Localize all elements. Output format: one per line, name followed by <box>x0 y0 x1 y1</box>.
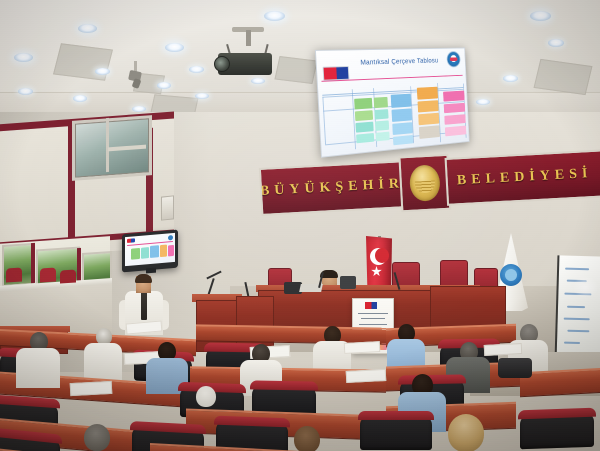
tv-slide-flag <box>127 238 135 243</box>
window-mullion <box>77 248 81 284</box>
tv-screen <box>125 233 175 266</box>
tv-slide-cell-orange <box>160 245 167 258</box>
auditorium-seating <box>0 330 600 451</box>
audience-chair <box>360 416 432 450</box>
slide-cell-pink <box>443 91 465 102</box>
presenter-tie <box>141 292 147 320</box>
attendee-head <box>196 386 216 407</box>
desk-bag <box>498 358 532 378</box>
attendee-torso <box>16 348 60 388</box>
ceiling-downlight <box>195 93 209 99</box>
handout-paper <box>70 381 113 396</box>
slide-cell-orange <box>418 100 439 112</box>
ceiling-downlight <box>157 82 171 89</box>
head-table-side <box>430 286 506 330</box>
ceiling-downlight <box>95 68 110 75</box>
ceiling-downlight <box>18 88 33 95</box>
handout-paper <box>346 369 387 383</box>
slide-cell-orange <box>417 87 438 100</box>
window-mullion <box>106 118 109 172</box>
slide-cell-green <box>374 97 388 108</box>
handout-paper <box>484 343 523 356</box>
ceiling-downlight <box>78 24 97 33</box>
ceiling-downlight <box>548 39 564 47</box>
attendee-head <box>448 414 484 451</box>
slide-cell-orange <box>419 125 440 139</box>
attendee-head <box>294 426 320 451</box>
attendee-head <box>84 424 110 451</box>
desk-monitor <box>340 276 356 289</box>
ceiling-downlight <box>264 11 285 21</box>
tv-slide-logo <box>168 235 173 240</box>
projection-screen: Mantıksal Çerçeve Tablosu <box>315 48 470 158</box>
slide-cell-teal <box>356 133 374 143</box>
ceiling-downlight <box>14 53 33 62</box>
tv-wall-bracket <box>146 268 156 274</box>
ceiling-downlight <box>165 43 184 52</box>
banner-text-right: BELEDİYESİ <box>457 166 593 189</box>
poster-text-line <box>361 318 385 319</box>
projector-mount-pole <box>246 30 251 46</box>
banner-segment-left: BÜYÜKŞEHİR <box>259 160 405 216</box>
slide-cell-teal <box>375 120 389 131</box>
conference-hall-photo: Mantıksal Çerçeve Tablosu <box>0 0 600 451</box>
slide-cell-pink <box>444 103 465 113</box>
turkey-eu-flag-logo <box>323 66 350 81</box>
tv-slide-cell-pink <box>168 245 174 257</box>
ceiling-downlight <box>189 66 204 73</box>
ceiling-downlight <box>530 11 551 21</box>
projector-lens-icon <box>214 56 230 72</box>
chair-behind-window <box>40 267 56 282</box>
audience-chair <box>0 432 60 451</box>
handout-paper <box>344 341 381 354</box>
municipality-flag-logo-inner <box>505 269 517 281</box>
window-mullion <box>31 243 35 283</box>
wall-mounted-tv <box>122 230 178 273</box>
slide-cell-green <box>355 110 373 121</box>
audience-desk <box>520 368 600 397</box>
slide-cell-blue <box>391 94 412 108</box>
banner-emblem-segment <box>398 154 451 213</box>
slide-cell-pink <box>444 114 465 125</box>
whiteboard-glare <box>572 276 599 299</box>
chair-behind-window <box>6 267 22 282</box>
tv-slide-cell-blue <box>150 245 159 258</box>
whiteboard-writing <box>567 306 585 308</box>
slide-cell-blue <box>392 122 412 135</box>
ceiling-downlight <box>503 75 518 82</box>
slide-cell-green <box>354 98 372 110</box>
crescent-cutout <box>375 248 389 263</box>
slide-cell-teal <box>374 109 388 119</box>
tv-slide-cell-teal <box>141 247 149 259</box>
whiteboard-writing <box>565 268 589 270</box>
audience-chair <box>520 413 594 450</box>
presenter-hair <box>135 274 152 283</box>
tv-slide-cell-green <box>131 248 140 260</box>
municipal-gold-emblem <box>409 164 441 202</box>
ceiling-vent-tile <box>53 43 113 80</box>
poster-text-line <box>359 324 387 325</box>
poster-flag-icon <box>365 302 377 309</box>
ceiling-downlight <box>251 78 265 84</box>
slide-cell-teal <box>376 132 390 142</box>
banner-text-left: BÜYÜKŞEHİR <box>260 176 405 200</box>
slide-cell-teal <box>355 122 373 133</box>
banner-segment-right: BELEDİYESİ <box>445 149 600 205</box>
ceiling-vent-tile <box>274 56 317 84</box>
wall-speaker-icon <box>161 195 174 220</box>
ceiling-downlight <box>73 95 87 102</box>
ceiling-downlight <box>476 99 490 105</box>
whiteboard-writing <box>564 318 590 320</box>
slide-cell-orange <box>418 113 439 126</box>
chair-behind-window <box>60 269 76 283</box>
slide-cell-blue <box>391 108 412 122</box>
poster-text-line <box>358 313 388 314</box>
